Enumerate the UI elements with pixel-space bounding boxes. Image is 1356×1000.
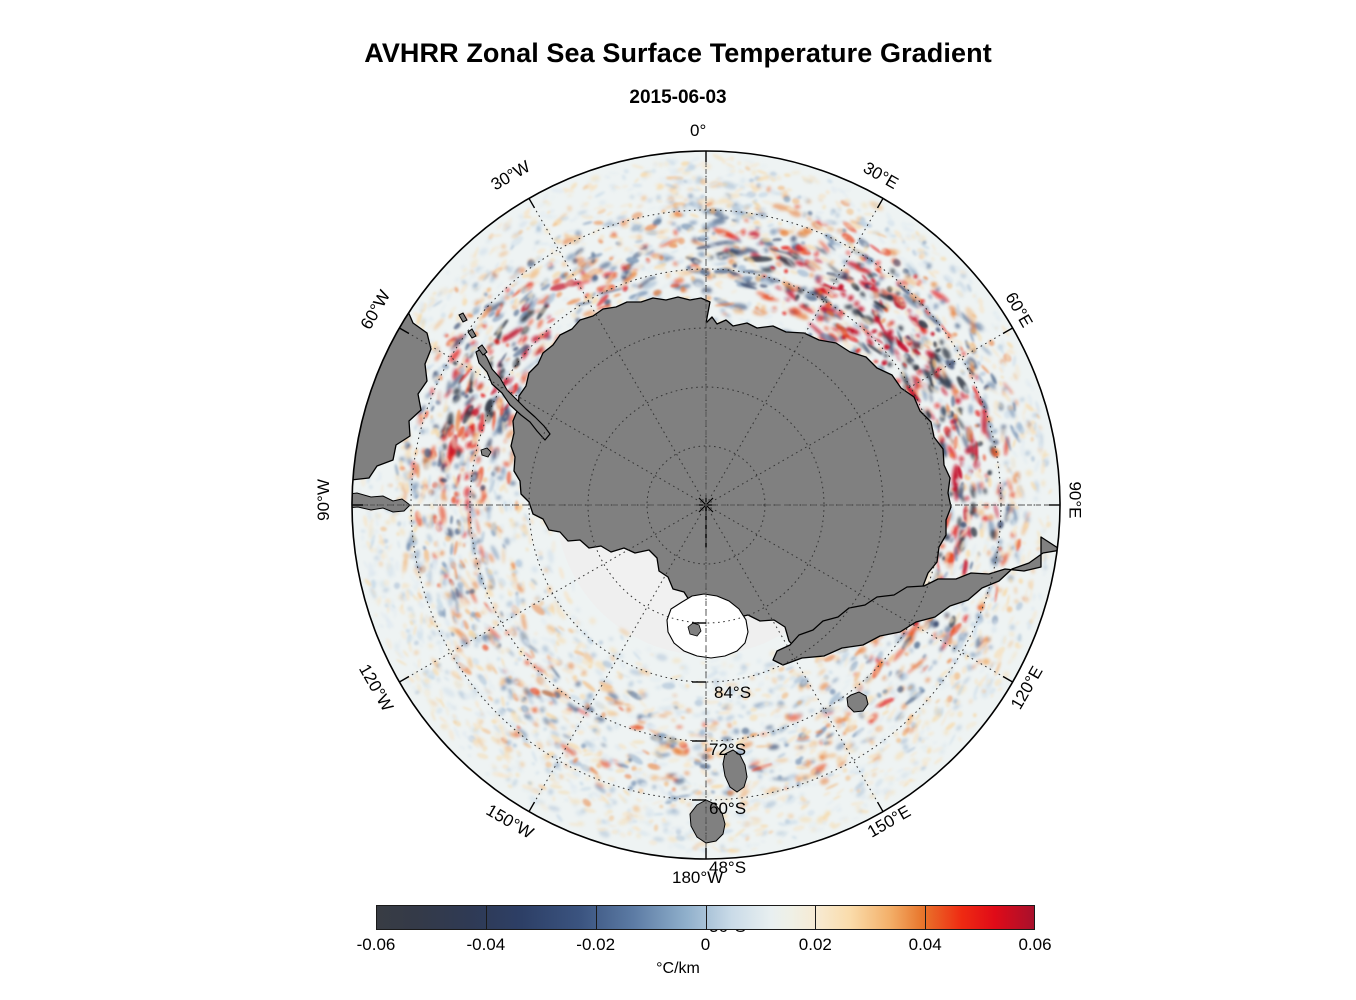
- eddy-filament: [692, 176, 696, 179]
- map-svg: [351, 150, 1061, 860]
- polar-stereographic-map[interactable]: 84°S 72°S 60°S 48°S 36°S: [351, 150, 1061, 860]
- eddy-filament: [461, 620, 463, 629]
- figure-canvas: AVHRR Zonal Sea Surface Temperature Grad…: [0, 0, 1356, 1000]
- figure-subtitle: 2015-06-03: [0, 87, 1356, 109]
- eddy-filament: [719, 671, 727, 676]
- eddy-filament: [510, 481, 516, 486]
- figure-title: AVHRR Zonal Sea Surface Temperature Grad…: [0, 38, 1356, 69]
- eddy-filament: [733, 839, 739, 842]
